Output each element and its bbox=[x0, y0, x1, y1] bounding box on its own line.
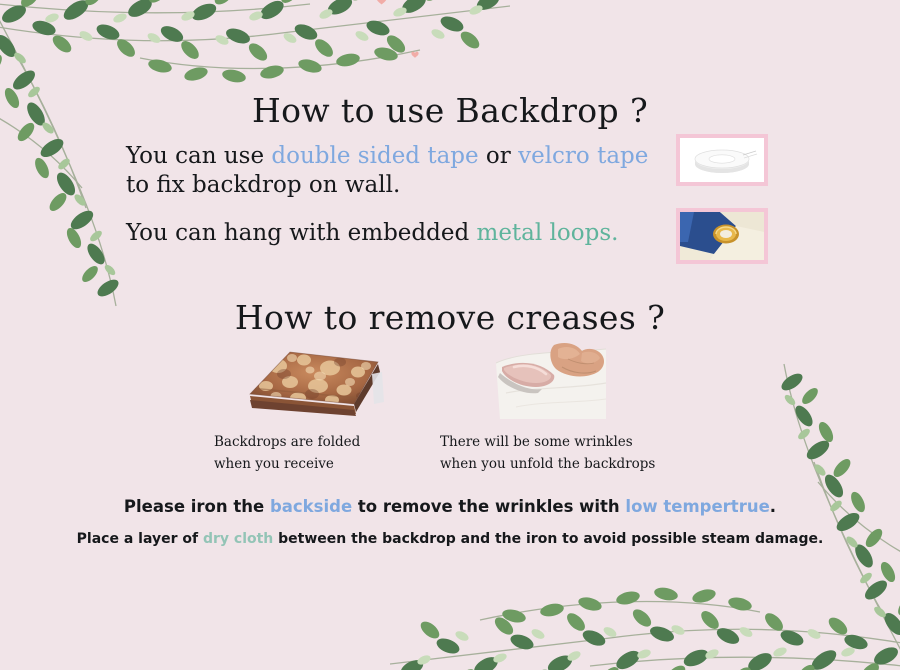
caption-folded-backdrop: Backdrops are folded when you receive bbox=[214, 432, 434, 476]
loops-text-part1: You can hang with embedded bbox=[126, 220, 477, 246]
caption-wrinkles-line2: when you unfold the backdrops bbox=[440, 454, 690, 476]
instruction-line-tape: You can use double sided tape or velcro … bbox=[126, 142, 656, 201]
heading-how-to-remove-creases: How to remove creases ? bbox=[0, 298, 900, 337]
instruction-line-loops: You can hang with embedded metal loops. bbox=[126, 219, 656, 248]
note-dry-cloth: Place a layer of dry cloth between the b… bbox=[0, 531, 900, 547]
caption-folded-line2: when you receive bbox=[214, 454, 434, 476]
note-iron-highlight-backside: backside bbox=[270, 497, 352, 516]
note-cloth-highlight-dry-cloth: dry cloth bbox=[203, 531, 273, 547]
tape-highlight-double-sided: double sided tape bbox=[271, 143, 478, 169]
caption-wrinkles: There will be some wrinkles when you unf… bbox=[440, 432, 690, 476]
note-iron-part3: . bbox=[770, 497, 776, 516]
folded-backdrop-photo bbox=[232, 338, 392, 424]
loops-highlight-metal-loops: metal loops. bbox=[477, 220, 619, 246]
note-cloth-part2: between the backdrop and the iron to avo… bbox=[273, 531, 823, 547]
backdrop-instructions-page: How to use Backdrop ? You can use double… bbox=[0, 0, 900, 670]
note-iron-part2: to remove the wrinkles with bbox=[352, 497, 625, 516]
tape-highlight-velcro: velcro tape bbox=[518, 143, 648, 169]
note-iron-part1: Please iron the bbox=[124, 497, 270, 516]
heart-decoration bbox=[377, 0, 419, 58]
ironing-backdrop-photo bbox=[492, 337, 610, 425]
caption-wrinkles-line1: There will be some wrinkles bbox=[440, 432, 690, 454]
heading-how-to-use-backdrop: How to use Backdrop ? bbox=[0, 91, 900, 130]
tape-text-part3: to fix backdrop on wall. bbox=[126, 172, 400, 198]
double-sided-tape-thumbnail bbox=[676, 134, 768, 186]
note-iron-highlight-temperature: low tempertrue bbox=[625, 497, 769, 516]
tape-text-part2: or bbox=[479, 143, 518, 169]
caption-folded-line1: Backdrops are folded bbox=[214, 432, 434, 454]
note-iron-backside: Please iron the backside to remove the w… bbox=[0, 497, 900, 516]
tape-text-part1: You can use bbox=[126, 143, 271, 169]
note-cloth-part1: Place a layer of bbox=[77, 531, 203, 547]
metal-loop-grommet-thumbnail bbox=[676, 208, 768, 264]
